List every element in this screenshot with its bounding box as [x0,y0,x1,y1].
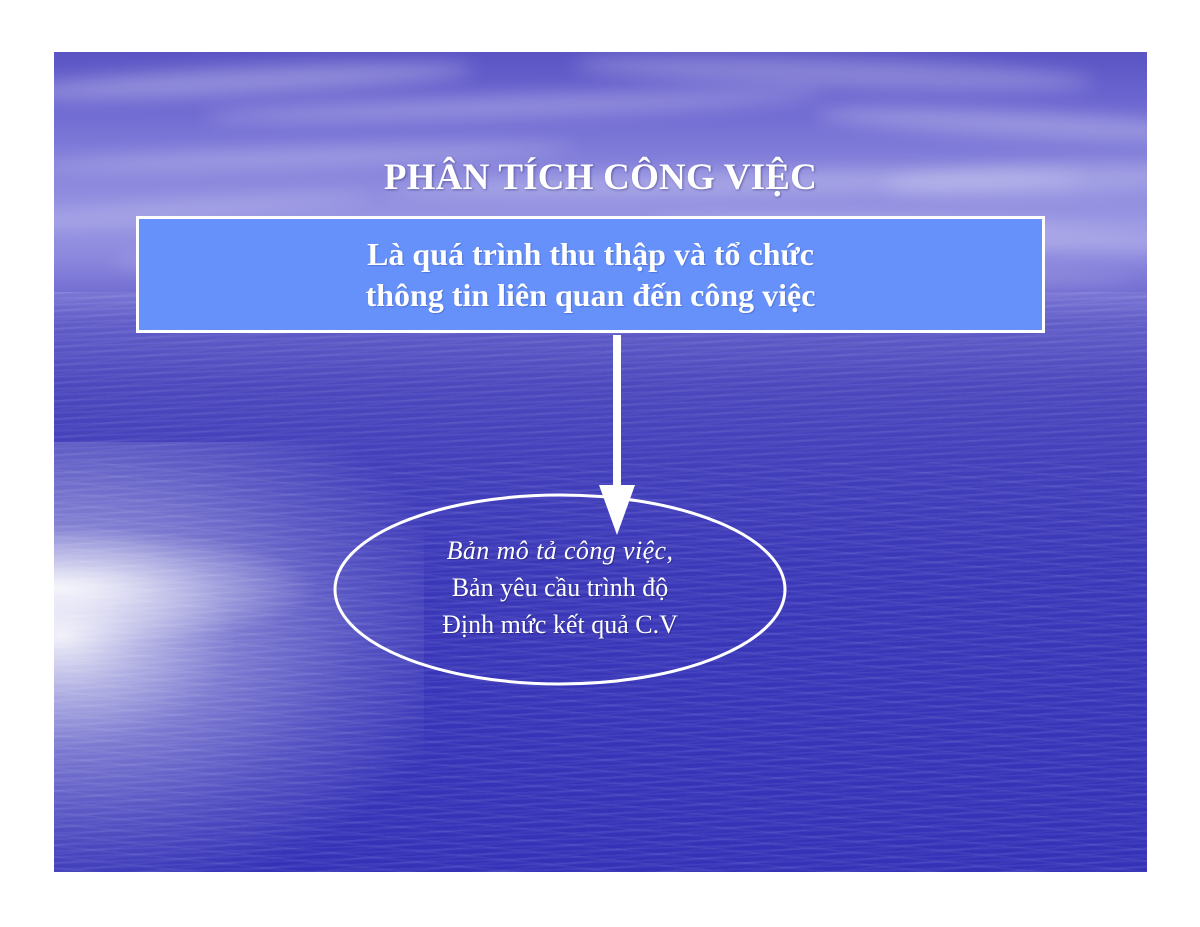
output-line-3: Định mức kết quả C.V [333,607,787,644]
cloud-wisp [814,101,1147,147]
cloud-wisp [204,85,824,127]
output-ellipse-text: Bản mô tả công việc, Bản yêu cầu trình đ… [333,533,787,644]
output-ellipse[interactable]: Bản mô tả công việc, Bản yêu cầu trình đ… [333,493,787,686]
output-line-2: Bản yêu cầu trình độ [333,570,787,607]
slide-page: PHÂN TÍCH CÔNG VIỆC Là quá trình thu thậ… [0,0,1200,927]
cloud-wisp [54,56,474,106]
output-line-1: Bản mô tả công việc, [333,533,787,570]
definition-box[interactable]: Là quá trình thu thập và tổ chức thông t… [136,216,1045,333]
cloud-wisp [574,52,1095,97]
sun-glint [54,528,314,648]
slide-canvas: PHÂN TÍCH CÔNG VIỆC Là quá trình thu thậ… [54,52,1147,872]
definition-line-2: thông tin liên quan đến công việc [366,275,816,316]
page-title: PHÂN TÍCH CÔNG VIỆC [54,156,1147,199]
definition-line-1: Là quá trình thu thập và tổ chức [367,234,814,275]
